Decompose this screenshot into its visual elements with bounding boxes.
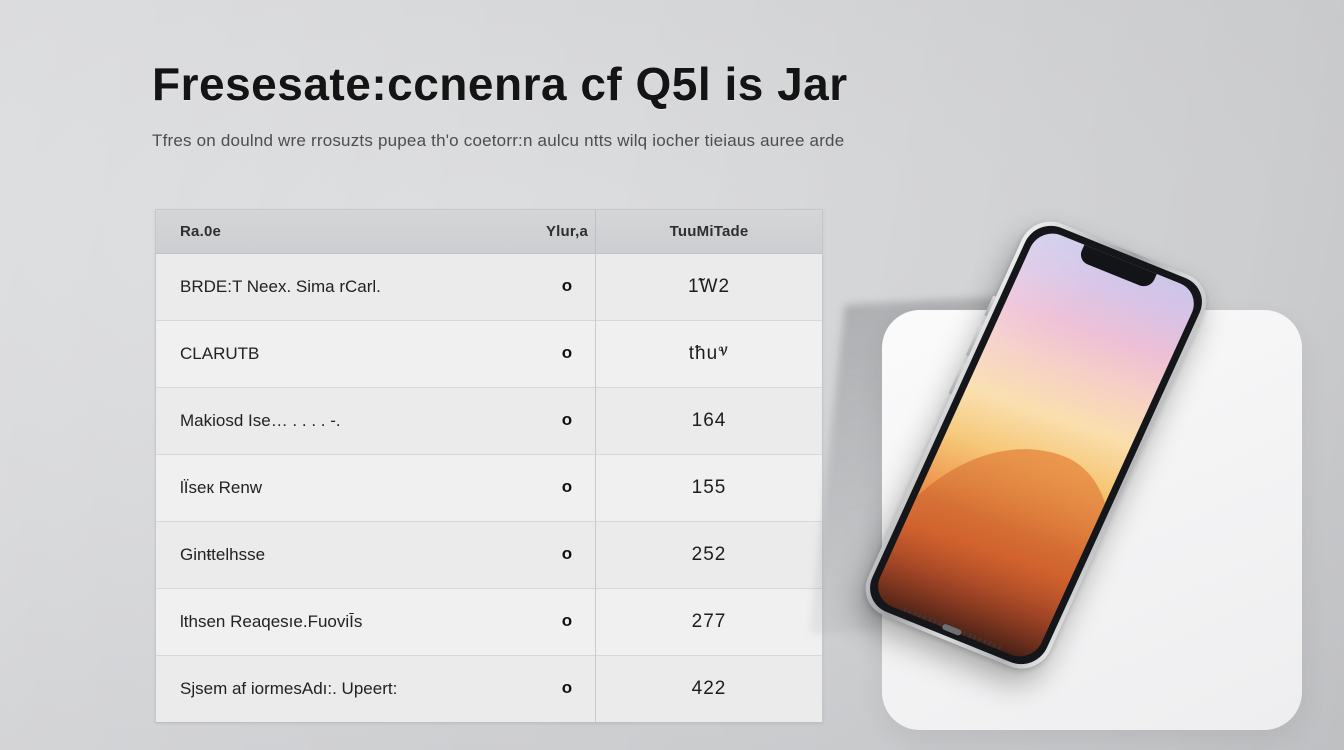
data-table: Ra.0e Ylur,a TuuMiTade BRDE:T Neex. Sima… bbox=[156, 210, 822, 722]
table-row[interactable]: Ginŧtelhsse o 252 bbox=[156, 521, 822, 588]
table-row[interactable]: Makiosd Ise… . . . . -. o 164 bbox=[156, 387, 822, 454]
table-header-row: Ra.0e Ylur,a TuuMiTade bbox=[156, 210, 822, 253]
ring-icon: o bbox=[562, 545, 572, 562]
table-row[interactable]: lthsen Reaqesıe.FuoviĪs o 277 bbox=[156, 588, 822, 655]
row-marker: o bbox=[539, 655, 596, 722]
row-marker: o bbox=[539, 253, 596, 320]
column-header-name[interactable]: Ra.0e bbox=[156, 210, 539, 253]
table-row[interactable]: BRDE:T Neex. Sima rCarl. o 1̃W2 bbox=[156, 253, 822, 320]
table-body: BRDE:T Neex. Sima rCarl. o 1̃W2 CLARUTB … bbox=[156, 253, 822, 722]
row-name: Makiosd Ise… . . . . -. bbox=[156, 387, 539, 454]
column-header-value[interactable]: TuuMiTade bbox=[596, 210, 822, 253]
row-value: 164 bbox=[596, 387, 822, 454]
ring-icon: o bbox=[562, 679, 572, 696]
row-name: Sjsem af iormesАdı:. Upeert: bbox=[156, 655, 539, 722]
ring-icon: o bbox=[562, 478, 572, 495]
ring-icon: o bbox=[562, 411, 572, 428]
table-row[interactable]: lÏseк Renw o 155 bbox=[156, 454, 822, 521]
row-value: 155 bbox=[596, 454, 822, 521]
row-value: 1̃W2 bbox=[596, 253, 822, 320]
row-marker: o bbox=[539, 320, 596, 387]
table-header: Ra.0e Ylur,a TuuMiTade bbox=[156, 210, 822, 253]
row-marker: o bbox=[539, 588, 596, 655]
table-row[interactable]: CLARUTB o tħuⱌ bbox=[156, 320, 822, 387]
table-row[interactable]: Sjsem af iormesАdı:. Upeert: o 422 bbox=[156, 655, 822, 722]
row-name: CLARUTB bbox=[156, 320, 539, 387]
ring-icon: o bbox=[562, 344, 572, 361]
row-value: tħuⱌ bbox=[596, 320, 822, 387]
row-value: 422 bbox=[596, 655, 822, 722]
row-name: BRDE:T Neex. Sima rCarl. bbox=[156, 253, 539, 320]
product-photo bbox=[820, 210, 1344, 750]
page-subtitle: Tfres on doulnd wre rrosuzts pupea th'o … bbox=[152, 131, 1252, 151]
row-marker: o bbox=[539, 521, 596, 588]
row-marker: o bbox=[539, 387, 596, 454]
row-value: 277 bbox=[596, 588, 822, 655]
comparison-table: Ra.0e Ylur,a TuuMiTade BRDE:T Neex. Sima… bbox=[155, 209, 823, 723]
page-title: Fresesate:ccnenra cf Q5l is Jar bbox=[152, 58, 1252, 111]
row-value: 252 bbox=[596, 521, 822, 588]
row-name: lthsen Reaqesıe.FuoviĪs bbox=[156, 588, 539, 655]
row-name: lÏseк Renw bbox=[156, 454, 539, 521]
row-marker: o bbox=[539, 454, 596, 521]
headline-block: Fresesate:ccnenra cf Q5l is Jar Tfres on… bbox=[152, 58, 1252, 151]
ring-icon: o bbox=[562, 612, 572, 629]
row-name: Ginŧtelhsse bbox=[156, 521, 539, 588]
column-header-marker[interactable]: Ylur,a bbox=[539, 210, 596, 253]
ring-icon: o bbox=[562, 277, 572, 294]
